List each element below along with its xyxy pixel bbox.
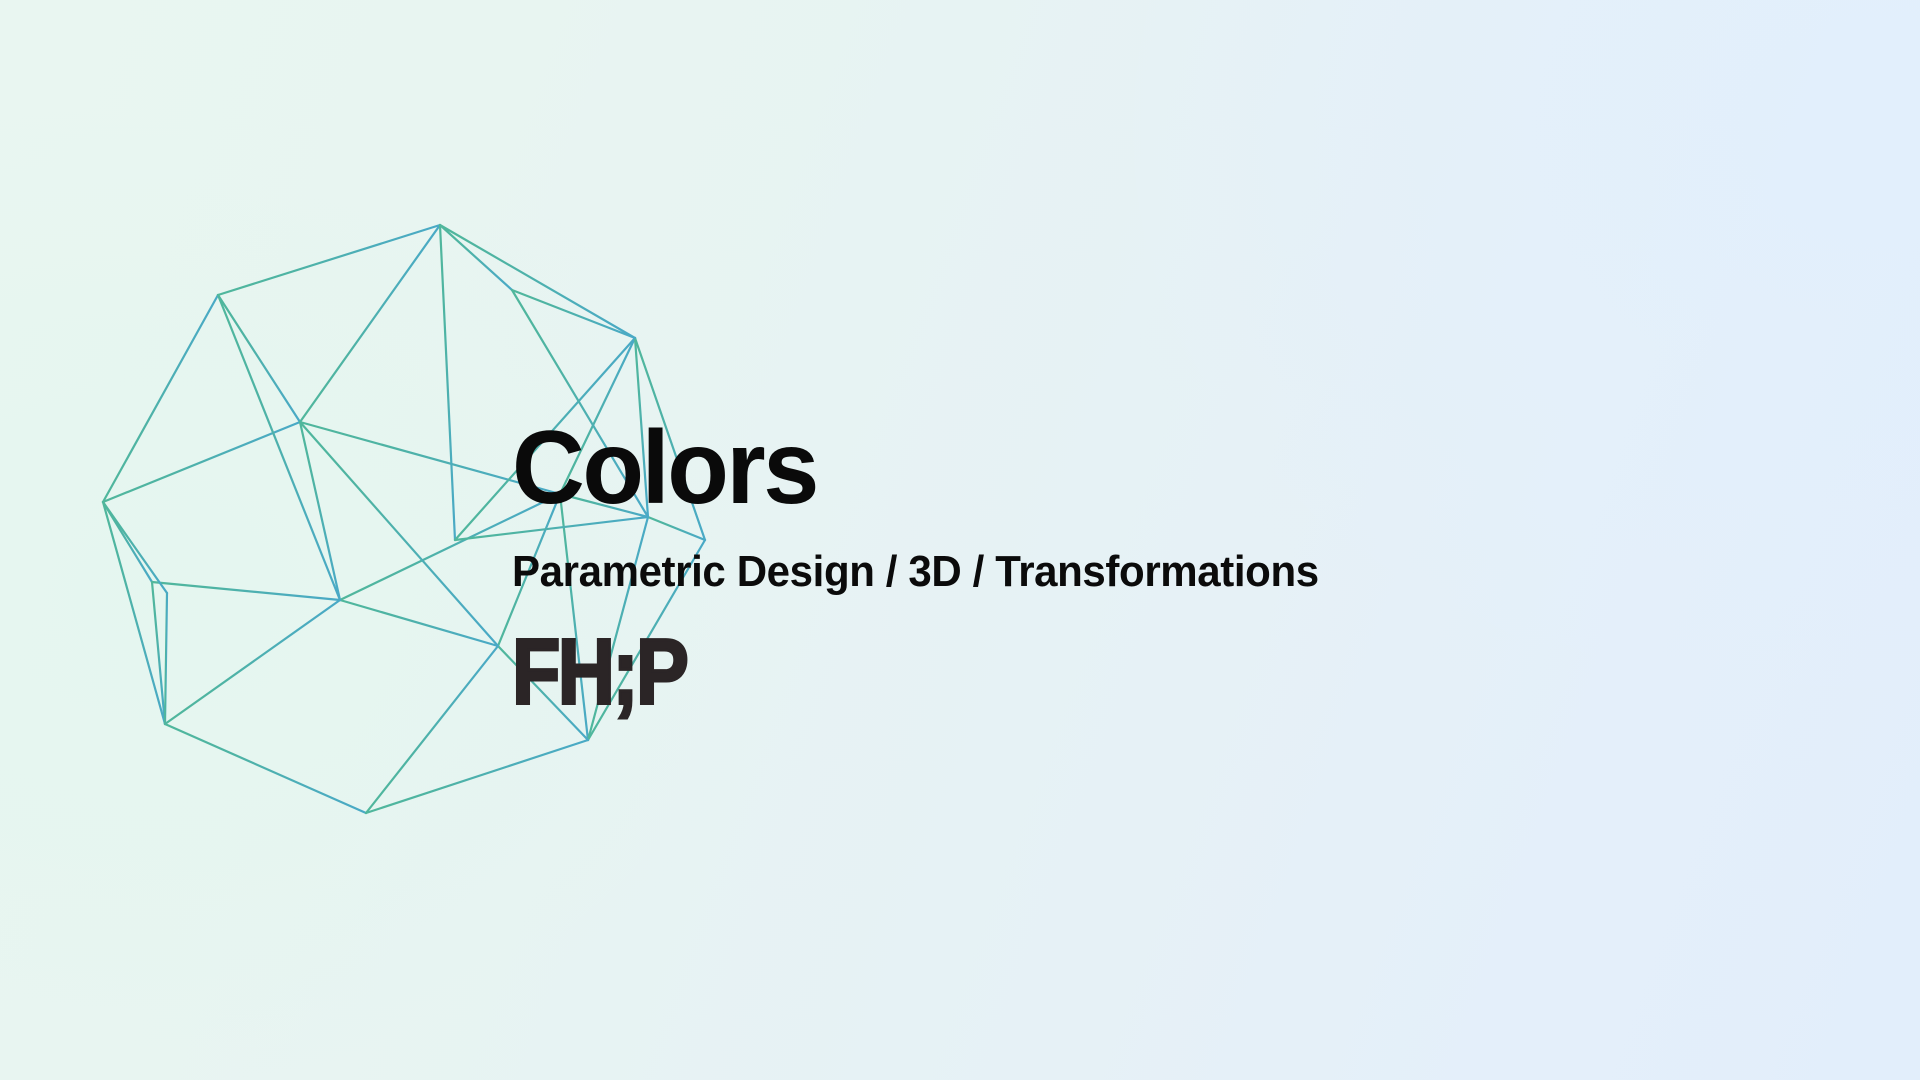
- wireframe-edge: [218, 295, 340, 600]
- wireframe-edge: [165, 724, 366, 813]
- wireframe-edge: [218, 225, 440, 295]
- wireframe-edge: [152, 582, 165, 724]
- wireframe-edge: [103, 422, 300, 502]
- wireframe-edge: [103, 502, 152, 582]
- slide-text-block: Colors Parametric Design / 3D / Transfor…: [512, 416, 1612, 716]
- brand-logo: FH;P: [512, 626, 1480, 719]
- wireframe-edge: [103, 295, 218, 502]
- wireframe-edge: [366, 646, 498, 813]
- wireframe-edge: [512, 290, 635, 338]
- wireframe-edge: [300, 422, 498, 646]
- presentation-slide: Colors Parametric Design / 3D / Transfor…: [0, 0, 1920, 1080]
- wireframe-edge: [440, 225, 512, 290]
- wireframe-edge: [340, 600, 498, 646]
- wireframe-edge: [366, 740, 588, 813]
- wireframe-edge: [152, 582, 340, 600]
- wireframe-edge: [165, 593, 167, 724]
- wireframe-edge: [218, 295, 300, 422]
- wireframe-edge: [300, 225, 440, 422]
- wireframe-edge: [440, 225, 635, 338]
- page-title: Colors: [512, 416, 1579, 520]
- wireframe-edge: [440, 225, 455, 540]
- wireframe-edge: [103, 502, 167, 593]
- page-subtitle: Parametric Design / 3D / Transformations: [512, 550, 1563, 594]
- wireframe-edge: [300, 422, 340, 600]
- wireframe-edge: [103, 502, 165, 724]
- wireframe-edge: [165, 600, 340, 724]
